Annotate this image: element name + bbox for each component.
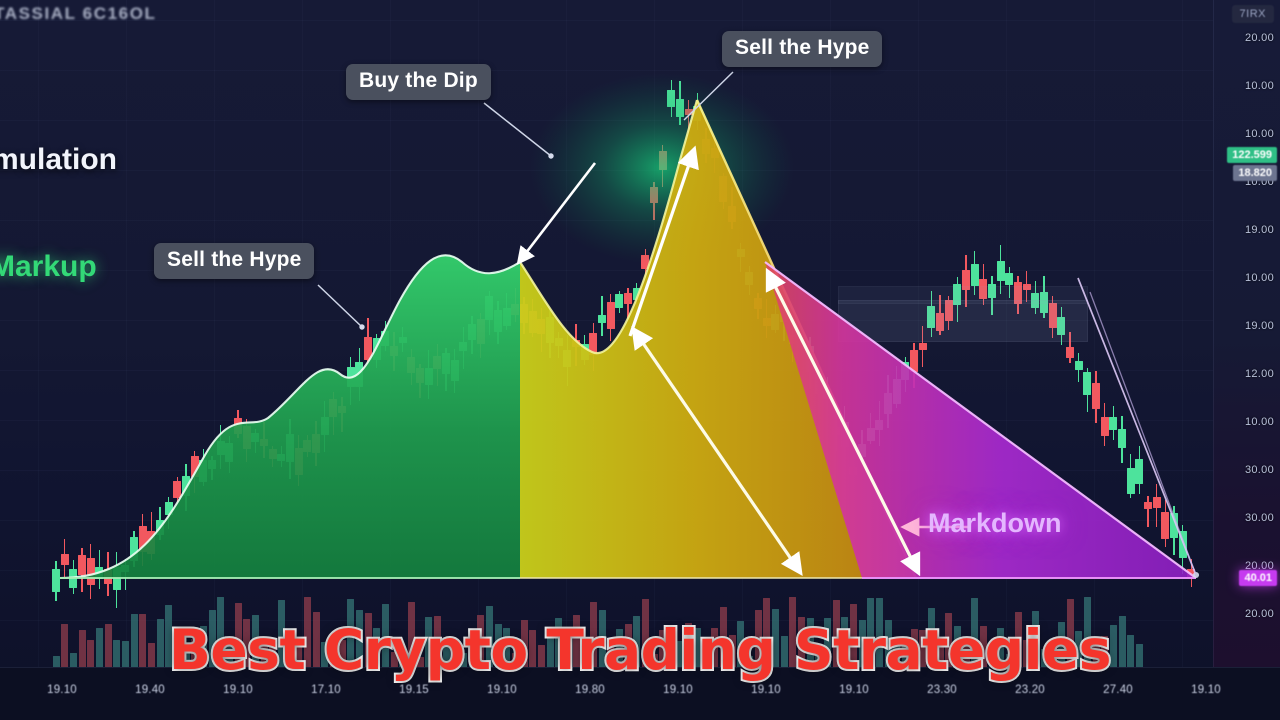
price-axis-tick: 30.00	[1245, 512, 1274, 524]
chart-screenshot: mulation Markup Markdown Buy the Dip Sel…	[0, 0, 1280, 720]
candle-body	[711, 148, 719, 158]
candle-body	[1170, 513, 1178, 537]
accumulation-label: mulation	[0, 143, 117, 177]
time-axis-tick: 19.10	[487, 684, 517, 696]
candle-body	[312, 434, 320, 453]
buy-the-dip-tag: Buy the Dip	[346, 64, 491, 100]
price-axis-tick: 12.00	[1245, 368, 1274, 380]
price-axis-tick: 19.00	[1245, 320, 1274, 332]
candle-body	[329, 399, 337, 417]
candle-body	[667, 90, 675, 108]
candle-body	[217, 441, 225, 455]
candle-body	[234, 418, 242, 434]
candle-body	[997, 261, 1005, 281]
candle-body	[381, 331, 389, 346]
candle-body	[373, 338, 381, 360]
candle-body	[1153, 497, 1161, 509]
candle-body	[78, 555, 86, 576]
candle-body	[1075, 361, 1083, 370]
time-axis-tick: 19.10	[47, 684, 77, 696]
gridline-v	[566, 0, 567, 668]
candle-body	[1179, 531, 1187, 558]
candle-body	[104, 569, 112, 585]
candle-body	[1161, 512, 1169, 539]
time-axis-tick: 23.20	[1015, 684, 1045, 696]
candle-body	[659, 151, 667, 169]
time-axis-tick: 19.80	[575, 684, 605, 696]
candle-body	[165, 502, 173, 516]
candle-body	[520, 304, 528, 324]
last-price-badge: 122.599	[1227, 147, 1277, 163]
time-axis-tick: 23.30	[927, 684, 957, 696]
candle-body	[598, 315, 606, 323]
candle-body	[459, 342, 467, 351]
candle-body	[685, 109, 693, 115]
gridline-h	[0, 70, 1280, 71]
candle-body	[615, 294, 623, 307]
candle-body	[650, 187, 658, 203]
candle-wick	[125, 559, 127, 590]
candle-body	[1144, 502, 1152, 510]
markup-label: Markup	[0, 250, 97, 284]
candle-body	[451, 360, 459, 381]
chart-range-box-b	[838, 286, 1088, 304]
gridline-v	[38, 0, 39, 668]
gridline-v	[390, 0, 391, 668]
candle-body	[754, 298, 762, 309]
candle-body	[1109, 417, 1117, 430]
sell-the-hype-tag-left: Sell the Hype	[154, 243, 314, 279]
candle-wick	[1147, 496, 1149, 527]
candle-body	[69, 569, 77, 588]
candle-body	[364, 337, 372, 360]
candle-body	[789, 335, 797, 344]
gridline-h	[0, 120, 1280, 121]
candle-body	[1066, 347, 1074, 358]
gridline-v	[830, 0, 831, 668]
candle-body	[737, 249, 745, 257]
candle-body	[676, 99, 684, 117]
candle-body	[910, 350, 918, 372]
price-axis-tick: 10.00	[1245, 80, 1274, 92]
candle-body	[494, 310, 502, 332]
candle-body	[156, 520, 164, 535]
gridline-v	[1094, 0, 1095, 668]
time-axis-tick: 17.10	[311, 684, 341, 696]
candle-body	[286, 434, 294, 461]
candle-body	[321, 417, 329, 435]
candle-body	[537, 319, 545, 334]
price-axis-tick: 10.00	[1245, 416, 1274, 428]
candle-body	[347, 367, 355, 387]
secondary-price-badge: 18.820	[1233, 165, 1277, 181]
candle-body	[728, 206, 736, 222]
gridline-h	[0, 170, 1280, 171]
gridline-h	[0, 220, 1280, 221]
candle-body	[832, 427, 840, 435]
candle-body	[511, 304, 519, 315]
gridline-h	[0, 520, 1280, 521]
gridline-h	[0, 20, 1280, 21]
candle-body	[1187, 569, 1195, 578]
price-axis-tick: 10.00	[1245, 272, 1274, 284]
markdown-label: Markdown	[928, 508, 1062, 539]
gridline-h	[0, 320, 1280, 321]
candle-body	[477, 319, 485, 344]
candle-body	[815, 374, 823, 394]
candle-body	[563, 350, 571, 367]
candle-body	[260, 439, 268, 446]
candle-body	[546, 317, 554, 343]
time-axis-tick: 19.10	[839, 684, 869, 696]
gridline-h	[0, 570, 1280, 571]
candle-body	[121, 565, 129, 572]
time-axis-tick: 19.40	[135, 684, 165, 696]
candle-body	[425, 368, 433, 384]
time-axis-tick: 19.10	[751, 684, 781, 696]
gridline-v	[654, 0, 655, 668]
gridline-h	[0, 420, 1280, 421]
candle-body	[87, 558, 95, 585]
price-axis-tick: 10.00	[1245, 128, 1274, 140]
time-axis-tick: 19.10	[223, 684, 253, 696]
candle-body	[1118, 429, 1126, 449]
candle-body	[901, 362, 909, 381]
candle-body	[338, 406, 346, 413]
candle-body	[243, 426, 251, 448]
candle-body	[780, 313, 788, 322]
candle-body	[884, 393, 892, 414]
candle-body	[113, 567, 121, 591]
candle-body	[191, 456, 199, 477]
candle-body	[875, 420, 883, 430]
candle-body	[173, 481, 181, 498]
time-axis-tick: 19.15	[399, 684, 429, 696]
candle-body	[693, 106, 701, 120]
candle-body	[503, 308, 511, 326]
candle-body	[971, 264, 979, 286]
candle-body	[199, 460, 207, 482]
source-watermark: TASSIAL 6C16OL	[0, 4, 157, 24]
candle-body	[433, 356, 441, 369]
candle-body	[399, 337, 407, 343]
candle-body	[225, 443, 233, 462]
candle-body	[251, 433, 259, 442]
candle-body	[1101, 417, 1109, 436]
price-axis-tick: 20.00	[1245, 32, 1274, 44]
price-axis-tick: 19.00	[1245, 224, 1274, 236]
candle-body	[624, 293, 632, 304]
candle-body	[407, 357, 415, 373]
candle-body	[468, 324, 476, 340]
candle-body	[52, 569, 60, 592]
candle-body	[555, 338, 563, 346]
candle-body	[303, 440, 311, 451]
candle-body	[390, 346, 398, 356]
candle-body	[841, 422, 849, 446]
candle-body	[607, 302, 615, 329]
candle-wick	[341, 397, 343, 432]
candle-body	[702, 139, 710, 154]
candle-body	[95, 567, 103, 580]
candle-body	[1092, 383, 1100, 409]
candle-wick	[740, 243, 742, 273]
sell-the-hype-tag-top: Sell the Hype	[722, 31, 882, 67]
candle-body	[771, 314, 779, 330]
alert-price-badge: 40.01	[1239, 570, 1277, 586]
candle-body	[182, 476, 190, 497]
candle-body	[633, 288, 641, 301]
candle-body	[581, 344, 589, 360]
candle-body	[1127, 468, 1135, 494]
time-axis-tick: 19.10	[663, 684, 693, 696]
time-axis-tick: 27.40	[1103, 684, 1133, 696]
candle-body	[295, 448, 303, 475]
candle-wick	[688, 100, 690, 133]
time-axis-tick: 19.10	[1191, 684, 1221, 696]
candle-body	[1083, 372, 1091, 395]
candle-body	[147, 531, 155, 554]
candle-body	[719, 176, 727, 201]
candle-body	[867, 428, 875, 441]
gridline-v	[742, 0, 743, 668]
candle-body	[529, 311, 537, 333]
candle-body	[641, 255, 649, 269]
candle-body	[589, 333, 597, 355]
candle-body	[1135, 459, 1143, 485]
candle-body	[442, 353, 450, 373]
candle-body	[416, 368, 424, 383]
candle-body	[919, 343, 927, 350]
candle-body	[61, 554, 69, 565]
candle-body	[139, 526, 147, 552]
page-title: Best Crypto Trading Strategies	[0, 618, 1280, 682]
candle-body	[277, 454, 285, 460]
candle-body	[269, 449, 277, 459]
candle-body	[858, 444, 866, 457]
candle-body	[849, 467, 857, 475]
candle-body	[823, 391, 831, 400]
candle-body	[893, 379, 901, 404]
price-axis[interactable]: 7IRX 20.0010.0010.0010.0019.0010.0019.00…	[1213, 0, 1280, 668]
candle-body	[745, 272, 753, 285]
candle-body	[208, 460, 216, 469]
chart-range-box-a	[838, 300, 1088, 342]
candle-body	[1005, 273, 1013, 285]
candle-body	[806, 346, 814, 372]
gridline-v	[302, 0, 303, 668]
candle-body	[763, 318, 771, 326]
candle-body	[355, 362, 363, 387]
candle-body	[130, 537, 138, 560]
price-axis-tick: 30.00	[1245, 464, 1274, 476]
ticker-chip: 7IRX	[1232, 5, 1274, 23]
gridline-v	[214, 0, 215, 668]
candle-body	[485, 296, 493, 320]
candle-body	[572, 340, 580, 347]
candle-body	[797, 337, 805, 348]
